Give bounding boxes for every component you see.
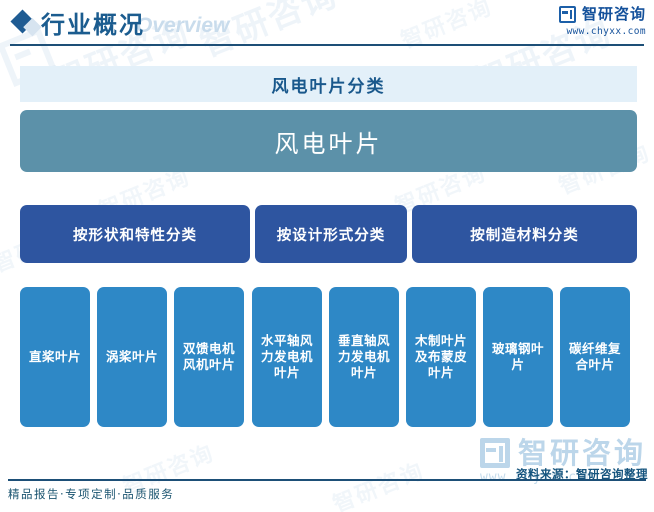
tree-diagram: 风电叶片 按形状和特性分类 按设计形式分类 按制造材料分类 直桨叶片 涡桨叶片 … <box>0 0 654 512</box>
tree-root-node[interactable]: 风电叶片 <box>20 110 637 172</box>
brand-row: 智研咨询 <box>559 6 646 23</box>
footer-tagline: 精品报告·专项定制·品质服务 <box>8 486 174 502</box>
header-subtitle: Overview <box>136 14 229 38</box>
tree-leaf-node-5[interactable]: 木制叶片及布蒙皮叶片 <box>406 287 476 427</box>
page-title: 行业概况 <box>41 5 145 40</box>
tree-leaf-node-1[interactable]: 涡桨叶片 <box>97 287 167 427</box>
brand-logo[interactable]: 智研咨询 www.chyxx.com <box>559 6 646 37</box>
tree-leaf-node-2[interactable]: 双馈电机风机叶片 <box>174 287 244 427</box>
tree-category-node-1[interactable]: 按设计形式分类 <box>255 205 407 263</box>
tree-leaf-node-3[interactable]: 水平轴风力发电机叶片 <box>252 287 322 427</box>
tree-leaf-node-7[interactable]: 碳纤维复合叶片 <box>560 287 630 427</box>
slide-canvas: 智研咨询 智研咨询 智研咨询 智研咨询 智研咨询 智研咨询 智研咨询 智研咨询 … <box>0 0 654 512</box>
tree-leaf-node-4[interactable]: 垂直轴风力发电机叶片 <box>329 287 399 427</box>
slide-header: Overview 行业概况 <box>0 0 654 47</box>
tree-category-node-0[interactable]: 按形状和特性分类 <box>20 205 250 263</box>
tree-leaf-node-0[interactable]: 直桨叶片 <box>20 287 90 427</box>
tree-category-node-2[interactable]: 按制造材料分类 <box>412 205 637 263</box>
header-divider <box>10 44 644 46</box>
diamond-icon <box>10 9 34 33</box>
tree-leaf-node-6[interactable]: 玻璃钢叶片 <box>483 287 553 427</box>
brand-url[interactable]: www.chyxx.com <box>559 26 646 37</box>
brand-name: 智研咨询 <box>582 7 646 22</box>
source-note: 资料来源：智研咨询整理 <box>516 466 648 482</box>
brand-mark-icon <box>559 6 576 23</box>
